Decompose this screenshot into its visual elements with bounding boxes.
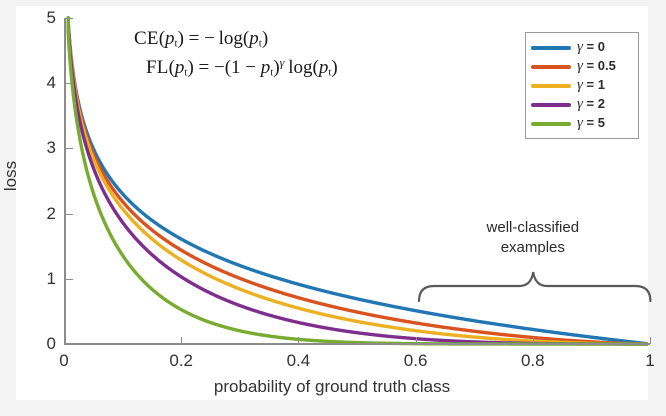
y-tick-label: 1 — [28, 270, 56, 287]
y-tick-label: 4 — [28, 74, 56, 91]
x-tick-mark — [181, 337, 182, 344]
legend-item-label: γ = 2 — [577, 96, 605, 113]
x-axis-line — [64, 343, 650, 345]
formula-block: CE(pt) = − log(pt) FL(pt) = −(1 − pt)γ l… — [128, 24, 428, 83]
formula-cross-entropy: CE(pt) = − log(pt) — [128, 24, 428, 53]
y-tick-label: 0 — [28, 335, 56, 352]
x-axis-label: probability of ground truth class — [16, 377, 648, 397]
curly-brace-icon — [416, 264, 654, 304]
legend-item-gamma-0[interactable]: γ = 0 — [531, 38, 634, 57]
chart-figure: 01234500.20.40.60.81 CE(pt) = − log(pt) … — [16, 6, 648, 400]
legend-color-swatch — [531, 84, 571, 88]
annotation-well-classified: well-classified examples — [427, 218, 639, 259]
x-tick-mark — [416, 337, 417, 344]
legend-item-gamma-1[interactable]: γ = 1 — [531, 76, 634, 95]
x-tick-label: 1 — [620, 352, 666, 369]
formula-focal-loss: FL(pt) = −(1 − pt)γ log(pt) — [128, 53, 428, 82]
x-tick-label: 0.6 — [386, 352, 446, 369]
x-tick-label: 0.8 — [503, 352, 563, 369]
legend-item-label: γ = 0 — [577, 39, 605, 56]
figure-page: 01234500.20.40.60.81 CE(pt) = − log(pt) … — [0, 0, 666, 416]
legend-color-swatch — [531, 103, 571, 107]
y-tick-mark — [66, 83, 73, 84]
x-tick-label: 0.4 — [268, 352, 328, 369]
y-tick-label: 3 — [28, 139, 56, 156]
y-tick-label: 2 — [28, 205, 56, 222]
y-tick-mark — [66, 214, 73, 215]
legend-box: γ = 0γ = 0.5γ = 1γ = 2γ = 5 — [525, 32, 639, 139]
annotation-line-2: examples — [427, 238, 639, 258]
y-tick-mark — [66, 18, 73, 19]
legend-color-swatch — [531, 46, 571, 50]
legend-item-gamma-5[interactable]: γ = 5 — [531, 114, 634, 133]
legend-item-label: γ = 1 — [577, 77, 605, 94]
y-axis-line — [64, 18, 66, 345]
x-tick-mark — [298, 337, 299, 344]
x-tick-mark — [64, 337, 65, 344]
y-tick-mark — [66, 279, 73, 280]
legend-color-swatch — [531, 65, 571, 69]
y-tick-mark — [66, 148, 73, 149]
y-axis-label: loss — [1, 161, 21, 191]
legend-item-gamma-2[interactable]: γ = 2 — [531, 95, 634, 114]
x-tick-label: 0 — [34, 352, 94, 369]
x-tick-mark — [650, 337, 651, 344]
legend-color-swatch — [531, 122, 571, 126]
x-tick-mark — [533, 337, 534, 344]
y-tick-mark — [66, 344, 73, 345]
y-tick-label: 5 — [28, 9, 56, 26]
legend-item-gamma-0.5[interactable]: γ = 0.5 — [531, 57, 634, 76]
annotation-line-1: well-classified — [427, 218, 639, 238]
legend-item-label: γ = 5 — [577, 115, 605, 132]
legend-item-label: γ = 0.5 — [577, 58, 616, 75]
x-tick-label: 0.2 — [151, 352, 211, 369]
